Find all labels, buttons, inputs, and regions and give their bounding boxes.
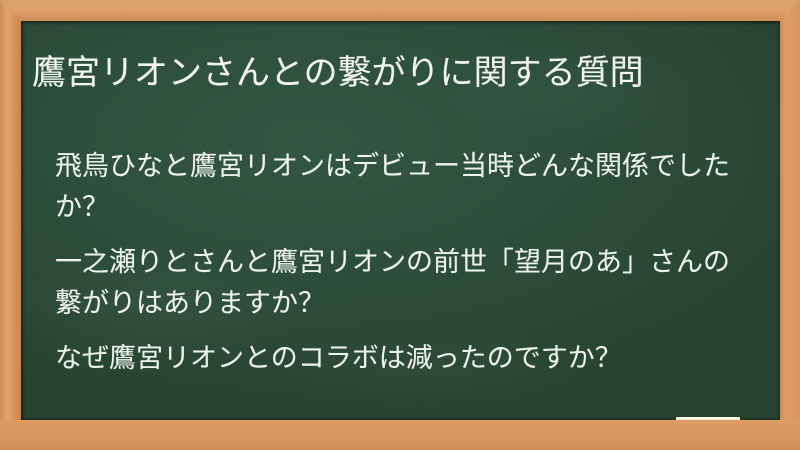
frame-rail-right — [779, 0, 800, 450]
frame-rail-bottom — [0, 420, 800, 450]
question-list: 飛鳥ひなと鷹宮リオンはデビュー当時どんな関係でしたか？ 一之瀬りとさんと鷹宮リオ… — [55, 146, 755, 379]
question-item: 一之瀬りとさんと鷹宮リオンの前世「望月のあ」さんの繋がりはありますか？ — [55, 242, 755, 324]
question-item: なぜ鷹宮リオンとのコラボは減ったのですか？ — [55, 338, 755, 379]
board-title: 鷹宮リオンさんとの繋がりに関する質問 — [32, 50, 750, 97]
board-content: 鷹宮リオンさんとの繋がりに関する質問 飛鳥ひなと鷹宮リオンはデビュー当時どんな関… — [21, 21, 780, 420]
chalkboard-surface: 鷹宮リオンさんとの繋がりに関する質問 飛鳥ひなと鷹宮リオンはデビュー当時どんな関… — [21, 21, 780, 420]
chalkboard-frame: 鷹宮リオンさんとの繋がりに関する質問 飛鳥ひなと鷹宮リオンはデビュー当時どんな関… — [0, 0, 800, 450]
frame-rail-left — [0, 0, 21, 450]
frame-rail-top — [0, 0, 800, 21]
question-item: 飛鳥ひなと鷹宮リオンはデビュー当時どんな関係でしたか？ — [55, 146, 755, 228]
chalk-stick-icon — [676, 417, 740, 420]
